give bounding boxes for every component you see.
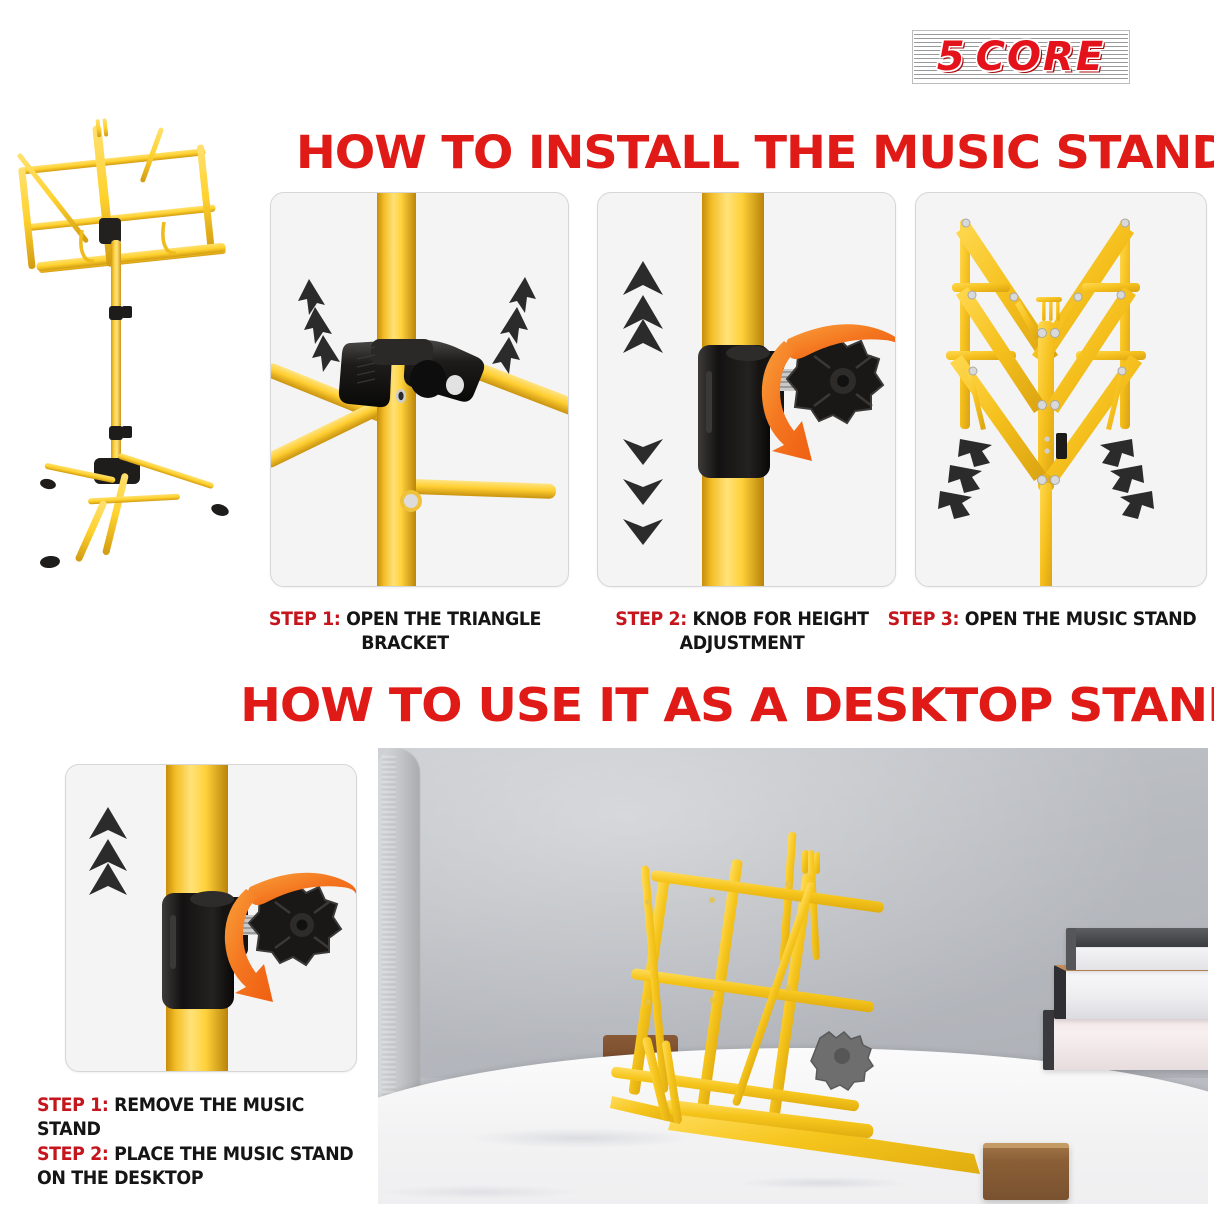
step-label-3: STEP 3:	[888, 609, 959, 630]
chevron-down-icon-group-right	[1100, 439, 1154, 519]
chevron-up-icon-group-right	[492, 277, 536, 374]
desktop-step-1: STEP 1: REMOVE THE MUSIC STAND	[37, 1094, 366, 1143]
page-title-desktop: HOW TO USE IT AS A DESKTOP STAND	[240, 678, 1214, 732]
music-stand-illustration	[4, 110, 254, 590]
desktop-step-2: STEP 2: PLACE THE MUSIC STAND ON THE DES…	[37, 1143, 366, 1192]
chevron-down-icon-group	[623, 439, 663, 545]
step-text-1: OPEN THE TRIANGLE BRACKET	[346, 609, 541, 654]
page-title-install: HOW TO INSTALL THE MUSIC STAND	[296, 126, 1214, 179]
triangle-bracket-panel	[270, 192, 569, 587]
desktop-stand-photo	[378, 748, 1208, 1204]
chevron-up-icon-group	[623, 261, 663, 353]
chevron-up-icon-group	[89, 807, 127, 895]
photo-book-top	[1066, 928, 1208, 970]
desktop-step-label-1: STEP 1:	[37, 1095, 108, 1116]
logo-word: CORE	[976, 37, 1105, 77]
height-knob-panel	[597, 192, 896, 587]
photo-chair-pad	[378, 748, 420, 1098]
step-label-2: STEP 2:	[615, 609, 686, 630]
photo-yellow-desk-stand	[556, 828, 1016, 1204]
chevron-up-icon-group-left	[298, 279, 340, 372]
triangle-bracket-illustration	[271, 193, 568, 586]
logo-wordmark: 5 CORE	[912, 30, 1130, 84]
height-knob-illustration	[598, 193, 895, 586]
step-caption-3: STEP 3: OPEN THE MUSIC STAND	[882, 608, 1202, 632]
step-label-1: STEP 1:	[269, 609, 340, 630]
desktop-knob-panel	[65, 764, 357, 1072]
logo-number: 5	[937, 37, 966, 77]
step-caption-1: STEP 1: OPEN THE TRIANGLE BRACKET	[236, 608, 574, 657]
desktop-step-captions: STEP 1: REMOVE THE MUSIC STAND STEP 2: P…	[37, 1094, 366, 1192]
photo-book-bottom	[1043, 1010, 1208, 1070]
chevron-down-icon-group-left	[938, 439, 992, 519]
photo-knob	[811, 1032, 873, 1090]
infographic-page: 5 CORE	[0, 0, 1214, 1214]
open-stand-panel	[915, 192, 1207, 587]
photo-wood-block	[983, 1143, 1069, 1200]
step-caption-2: STEP 2: KNOB FOR HEIGHT ADJUSTMENT	[601, 608, 883, 657]
desktop-step-label-2: STEP 2:	[37, 1144, 108, 1165]
photo-book-middle	[1054, 965, 1208, 1019]
step-text-2: KNOB FOR HEIGHT ADJUSTMENT	[680, 609, 869, 654]
step-text-3: OPEN THE MUSIC STAND	[965, 609, 1197, 630]
brand-logo: 5 CORE	[912, 30, 1130, 84]
folded-stand-illustration	[916, 193, 1206, 586]
desktop-knob-illustration	[66, 765, 356, 1071]
